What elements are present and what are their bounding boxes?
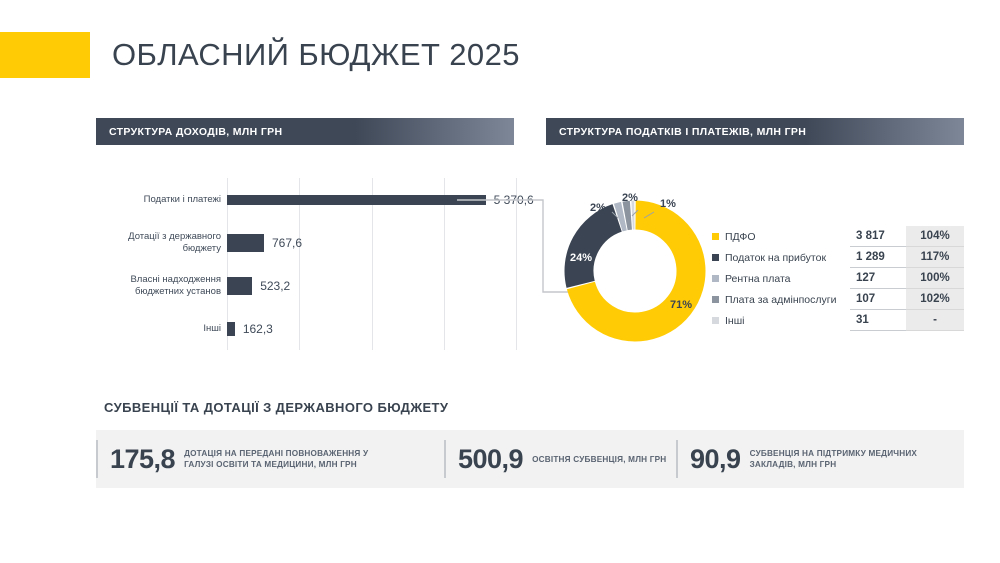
stat-description: ОСВІТНЯ СУБВЕНЦІЯ, МЛН ГРН: [532, 454, 666, 465]
section-header-taxes-label: СТРУКТУРА ПОДАТКІВ І ПЛАТЕЖІВ, МЛН ГРН: [546, 126, 806, 138]
bar-track: 5 370,6: [227, 178, 534, 221]
bar-chart-row: Власні надходження бюджетних установ523,…: [96, 264, 516, 307]
bar-category-label: Інші: [96, 323, 227, 335]
stat-number: 90,9: [690, 444, 741, 475]
income-bar-chart: Податки і платежі5 370,6Дотації з держав…: [96, 178, 516, 350]
bar-category-label: Власні надходження бюджетних установ: [96, 274, 227, 298]
section-header-income-label: СТРУКТУРА ДОХОДІВ, МЛН ГРН: [96, 126, 282, 138]
legend-marker-icon: [712, 233, 719, 240]
legend-table-row: Інші31-: [712, 310, 964, 331]
stat-number: 500,9: [458, 444, 523, 475]
legend-value: 3 817: [850, 226, 906, 247]
legend-value: 107: [850, 289, 906, 310]
legend-table-row: Рентна плата127100%: [712, 268, 964, 289]
bar-track: 523,2: [227, 264, 516, 307]
stat-card: 175,8ДОТАЦІЯ НА ПЕРЕДАНІ ПОВНОВАЖЕННЯ У …: [96, 440, 444, 478]
stat-card: 500,9ОСВІТНЯ СУБВЕНЦІЯ, МЛН ГРН: [444, 440, 676, 478]
stat-description: СУБВЕНЦІЯ НА ПІДТРИМКУ МЕДИЧНИХ ЗАКЛАДІВ…: [750, 448, 960, 470]
legend-plan-percent: -: [906, 310, 964, 331]
legend-label: Рентна плата: [725, 273, 850, 285]
bar-chart-row: Податки і платежі5 370,6: [96, 178, 516, 221]
legend-plan-percent: 102%: [906, 289, 964, 310]
subventions-stats-band: 175,8ДОТАЦІЯ НА ПЕРЕДАНІ ПОВНОВАЖЕННЯ У …: [96, 430, 964, 488]
bar-track: 162,3: [227, 307, 516, 350]
donut-leader-lines: [560, 196, 710, 346]
bar-chart-row: Інші162,3: [96, 307, 516, 350]
bar-fill: [227, 277, 252, 295]
legend-value: 127: [850, 268, 906, 289]
stat-number: 175,8: [110, 444, 175, 475]
bar-value-label: 523,2: [260, 279, 290, 293]
bar-value-label: 162,3: [243, 322, 273, 336]
legend-table-row: Податок на прибуток1 289117%: [712, 247, 964, 268]
donut-leader-line: [644, 212, 654, 218]
legend-marker-icon: [712, 296, 719, 303]
taxes-donut-chart: 71%24%2%2%1%: [560, 196, 710, 346]
legend-label: Податок на прибуток: [725, 252, 850, 264]
section-header-income: СТРУКТУРА ДОХОДІВ, МЛН ГРН: [96, 118, 514, 145]
section-header-taxes: СТРУКТУРА ПОДАТКІВ І ПЛАТЕЖІВ, МЛН ГРН: [546, 118, 964, 145]
page-header: ОБЛАСНИЙ БЮДЖЕТ 2025: [0, 32, 520, 78]
donut-leader-line: [612, 212, 618, 218]
accent-block: [0, 32, 90, 78]
legend-table-row: ПДФО3 817104%: [712, 226, 964, 247]
legend-marker-icon: [712, 275, 719, 282]
stat-description: ДОТАЦІЯ НА ПЕРЕДАНІ ПОВНОВАЖЕННЯ У ГАЛУЗ…: [184, 448, 394, 470]
legend-marker-icon: [712, 254, 719, 261]
bar-fill: [227, 195, 486, 205]
legend-label: Плата за адмінпослуги: [725, 294, 850, 306]
legend-value: 31: [850, 310, 906, 331]
taxes-legend-table: ПДФО3 817104%Податок на прибуток1 289117…: [712, 226, 964, 331]
bar-category-label: Податки і платежі: [96, 194, 227, 206]
donut-leader-line: [632, 210, 638, 216]
legend-plan-percent: 104%: [906, 226, 964, 247]
bar-value-label: 767,6: [272, 236, 302, 250]
legend-table-row: Плата за адмінпослуги107102%: [712, 289, 964, 310]
bar-fill: [227, 322, 235, 336]
bar-track: 767,6: [227, 221, 516, 264]
page-title: ОБЛАСНИЙ БЮДЖЕТ 2025: [112, 37, 520, 73]
legend-label: Інші: [725, 315, 850, 327]
legend-plan-percent: 117%: [906, 247, 964, 268]
bar-chart-row: Дотації з державного бюджету767,6: [96, 221, 516, 264]
legend-plan-percent: 100%: [906, 268, 964, 289]
bar-chart-rows: Податки і платежі5 370,6Дотації з держав…: [96, 178, 516, 350]
bar-fill: [227, 234, 264, 252]
subventions-title: СУБВЕНЦІЇ ТА ДОТАЦІЇ З ДЕРЖАВНОГО БЮДЖЕТ…: [104, 400, 448, 415]
legend-value: 1 289: [850, 247, 906, 268]
bar-value-label: 5 370,6: [494, 193, 534, 207]
bar-category-label: Дотації з державного бюджету: [96, 231, 227, 255]
stat-card: 90,9СУБВЕНЦІЯ НА ПІДТРИМКУ МЕДИЧНИХ ЗАКЛ…: [676, 440, 964, 478]
legend-label: ПДФО: [725, 231, 850, 243]
legend-marker-icon: [712, 317, 719, 324]
